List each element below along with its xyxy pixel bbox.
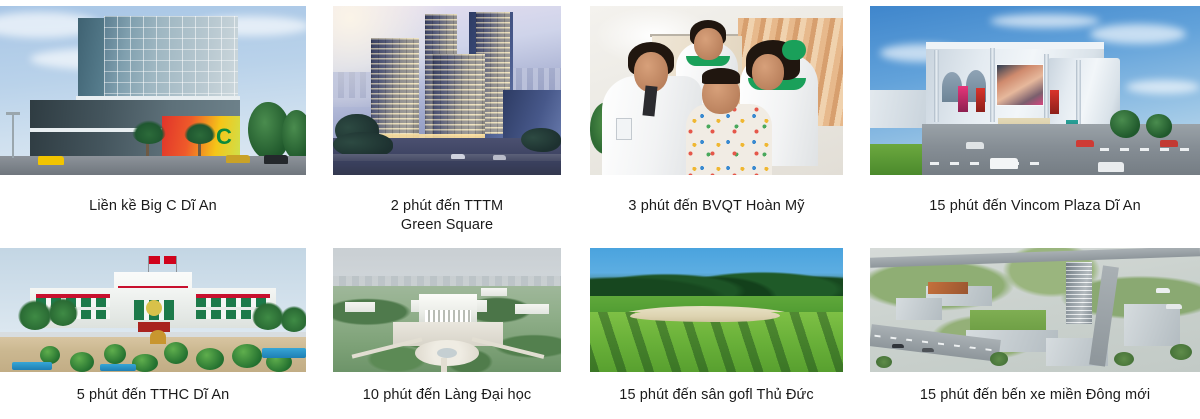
water-feature — [262, 348, 306, 358]
utilities-gallery: C Liền kề Big C Dĩ An — [0, 0, 1200, 419]
street-tree — [876, 356, 892, 368]
gallery-item-tthc-di-an[interactable]: 5 phút đến TTHC Dĩ An — [0, 248, 306, 405]
car-shape — [1098, 162, 1124, 172]
caption-tthc-di-an: 5 phút đến TTHC Dĩ An — [0, 386, 306, 405]
topiary-shrub — [232, 344, 262, 368]
cloud-shape — [990, 14, 1100, 28]
thumbnail-tttm-green-square[interactable] — [333, 6, 561, 175]
caption-line: Liền kề Big C Dĩ An — [0, 197, 306, 216]
caption-tttm-green-square: 2 phút đến TTTM Green Square — [333, 197, 561, 235]
caption-lang-dai-hoc: 10 phút đến Làng Đại học — [333, 386, 561, 405]
big-c-letter: C — [216, 124, 232, 150]
caption-line: 3 phút đến BVQT Hoàn Mỹ — [590, 197, 843, 216]
office-tower — [1066, 262, 1092, 324]
caption-line: 5 phút đến TTHC Dĩ An — [0, 386, 306, 405]
mall-cornice — [926, 42, 1104, 49]
gallery-item-bvqt-hoan-my[interactable]: 3 phút đến BVQT Hoàn Mỹ — [590, 6, 843, 216]
party-flag — [164, 256, 176, 264]
commercial-block — [1124, 304, 1180, 346]
caption-vincom-plaza-di-an: 15 phút đến Vincom Plaza Dĩ An — [870, 197, 1200, 216]
street-lamp-pole — [12, 114, 14, 158]
campus-building — [515, 304, 549, 314]
palm-crown — [184, 122, 216, 144]
thumbnail-san-golf-thu-duc[interactable] — [590, 248, 843, 372]
caption-line: 15 phút đến Vincom Plaza Dĩ An — [870, 197, 1200, 216]
topiary-shrub — [104, 344, 126, 364]
flagpole — [176, 256, 177, 272]
led-billboard — [996, 64, 1044, 106]
lane-markings — [1100, 148, 1200, 151]
tree-shape — [1146, 114, 1172, 138]
palm-crown — [132, 120, 166, 144]
caption-line: 2 phút đến TTTM — [333, 197, 561, 216]
adjacent-lowrise — [870, 90, 934, 128]
car-shape — [451, 154, 465, 159]
highrise-tower — [433, 54, 485, 142]
caption-bvqt-hoan-my: 3 phút đến BVQT Hoàn Mỹ — [590, 197, 843, 216]
caption-line: Green Square — [333, 216, 561, 235]
ad-banner — [976, 88, 985, 112]
caption-line: 15 phút đến bến xe miền Đông mới — [870, 386, 1200, 405]
street-tree — [990, 352, 1008, 366]
gallery-item-big-c-di-an[interactable]: C Liền kề Big C Dĩ An — [0, 6, 306, 216]
gallery-item-tttm-green-square[interactable]: 2 phút đến TTTM Green Square — [333, 6, 561, 235]
terracotta-roof — [928, 282, 968, 294]
topiary-shrub — [164, 342, 188, 364]
facade-pilaster — [1044, 54, 1049, 124]
vehicle-shape — [922, 348, 934, 352]
tree-mass — [521, 128, 561, 152]
palm-tree — [48, 298, 78, 326]
tower-main-volume — [104, 16, 238, 98]
car-shape — [38, 156, 64, 165]
id-badge — [616, 118, 632, 140]
glass-curtain-wall — [104, 16, 238, 98]
face-shape — [694, 28, 723, 60]
slogan-banner — [196, 294, 270, 298]
bus-shape — [1156, 288, 1170, 293]
flagpole — [148, 256, 149, 272]
cloud-shape — [1126, 80, 1200, 94]
facade-pilaster — [1076, 60, 1081, 124]
car-shape — [493, 155, 506, 160]
walkway — [441, 358, 447, 372]
car-shape — [990, 158, 1018, 169]
baby-onesie — [686, 104, 772, 175]
caption-big-c-di-an: Liền kề Big C Dĩ An — [0, 197, 306, 216]
tree-shape — [282, 110, 306, 160]
topiary-shrub — [196, 348, 224, 370]
campus-building — [481, 288, 507, 296]
thumbnail-tthc-di-an[interactable] — [0, 248, 306, 372]
thumbnail-big-c-di-an[interactable]: C — [0, 6, 306, 175]
face-shape — [752, 54, 784, 90]
tree-shape — [1110, 110, 1140, 138]
gallery-item-ben-xe-mien-dong-moi[interactable]: 15 phút đến bến xe miền Đông mới — [870, 248, 1200, 405]
caption-line: 15 phút đến sân gofl Thủ Đức — [590, 386, 843, 405]
caption-line: 10 phút đến Làng Đại học — [333, 386, 561, 405]
car-shape — [1076, 140, 1094, 147]
gallery-item-lang-dai-hoc[interactable]: 10 phút đến Làng Đại học — [333, 248, 561, 405]
gallery-item-san-golf-thu-duc[interactable]: 15 phút đến sân gofl Thủ Đức — [590, 248, 843, 405]
nurse-cap — [782, 40, 806, 60]
water-feature — [100, 364, 136, 371]
car-shape — [226, 155, 250, 163]
ad-banner — [1050, 90, 1059, 114]
campus-building — [345, 302, 375, 312]
street-surface — [333, 154, 561, 161]
commercial-block — [896, 298, 942, 320]
caption-san-golf-thu-duc: 15 phút đến sân gofl Thủ Đức — [590, 386, 843, 405]
palm-tree — [18, 300, 52, 330]
water-feature — [12, 362, 52, 370]
street-lamp-arm — [6, 112, 20, 115]
facade-pilaster — [934, 50, 939, 122]
thumbnail-vincom-plaza-di-an[interactable] — [870, 6, 1200, 175]
colonnade — [425, 310, 471, 322]
cloud-shape — [1090, 24, 1186, 44]
facade-pilaster — [990, 48, 995, 122]
ad-banner — [958, 86, 968, 112]
thumbnail-bvqt-hoan-my[interactable] — [590, 6, 843, 175]
thumbnail-ben-xe-mien-dong-moi[interactable] — [870, 248, 1200, 372]
fountain-basin — [437, 348, 457, 358]
palm-tree — [280, 306, 306, 332]
garden-gazebo — [150, 330, 166, 344]
street-tree — [1114, 352, 1134, 366]
topiary-shrub — [70, 352, 94, 372]
bus-shape — [1166, 304, 1182, 309]
sand-bunker-edge — [630, 308, 780, 322]
gallery-item-vincom-plaza-di-an[interactable]: 15 phút đến Vincom Plaza Dĩ An — [870, 6, 1200, 216]
caption-ben-xe-mien-dong-moi: 15 phút đến bến xe miền Đông mới — [870, 386, 1200, 405]
vehicle-shape — [892, 344, 904, 348]
car-shape — [966, 142, 984, 149]
slogan-banner — [36, 294, 110, 298]
national-emblem — [146, 300, 162, 316]
national-flag — [148, 256, 160, 264]
highrise-tower — [371, 38, 419, 140]
car-shape — [264, 155, 288, 164]
street-tree — [1170, 344, 1192, 360]
baby-hair — [702, 68, 740, 84]
car-shape — [1160, 140, 1178, 147]
thumbnail-lang-dai-hoc[interactable] — [333, 248, 561, 372]
